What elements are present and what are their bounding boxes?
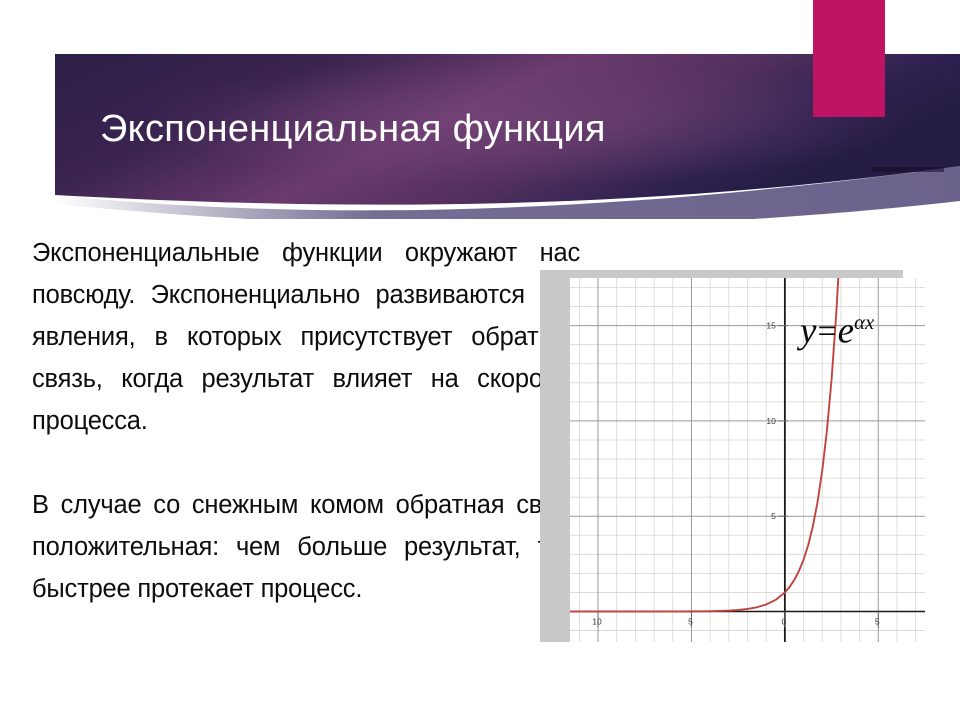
formula-equals: = <box>816 313 837 350</box>
page-title: Экспоненциальная функция <box>100 106 840 152</box>
exponential-curve <box>570 278 838 612</box>
svg-text:5: 5 <box>875 617 880 627</box>
magenta-accent-shadow <box>872 167 944 172</box>
svg-text:0: 0 <box>782 617 787 627</box>
body-paragraph-2: В случае со снежным комом обратная связь… <box>32 484 580 610</box>
svg-text:10: 10 <box>766 416 776 426</box>
formula-base: y <box>800 310 816 351</box>
formula-exponent: αx <box>854 312 874 334</box>
body-text-column: Экспоненциальные функции окружают нас по… <box>32 232 580 610</box>
svg-text:10: 10 <box>592 617 602 627</box>
presentation-slide: Экспоненциальная функция Экспоненциальны… <box>0 0 960 720</box>
svg-text:15: 15 <box>766 321 776 331</box>
formula-annotation: y=eαx <box>800 303 874 352</box>
body-paragraph-1: Экспоненциальные функции окружают нас по… <box>32 232 580 442</box>
chart-top-shadow-band <box>540 270 903 278</box>
magenta-accent-bar <box>813 0 885 117</box>
chart-tick-marks <box>598 326 878 628</box>
formula-expression: e <box>838 310 854 351</box>
chart-left-shadow-band <box>540 270 570 642</box>
svg-text:5: 5 <box>771 511 776 521</box>
svg-text:5: 5 <box>688 617 693 627</box>
